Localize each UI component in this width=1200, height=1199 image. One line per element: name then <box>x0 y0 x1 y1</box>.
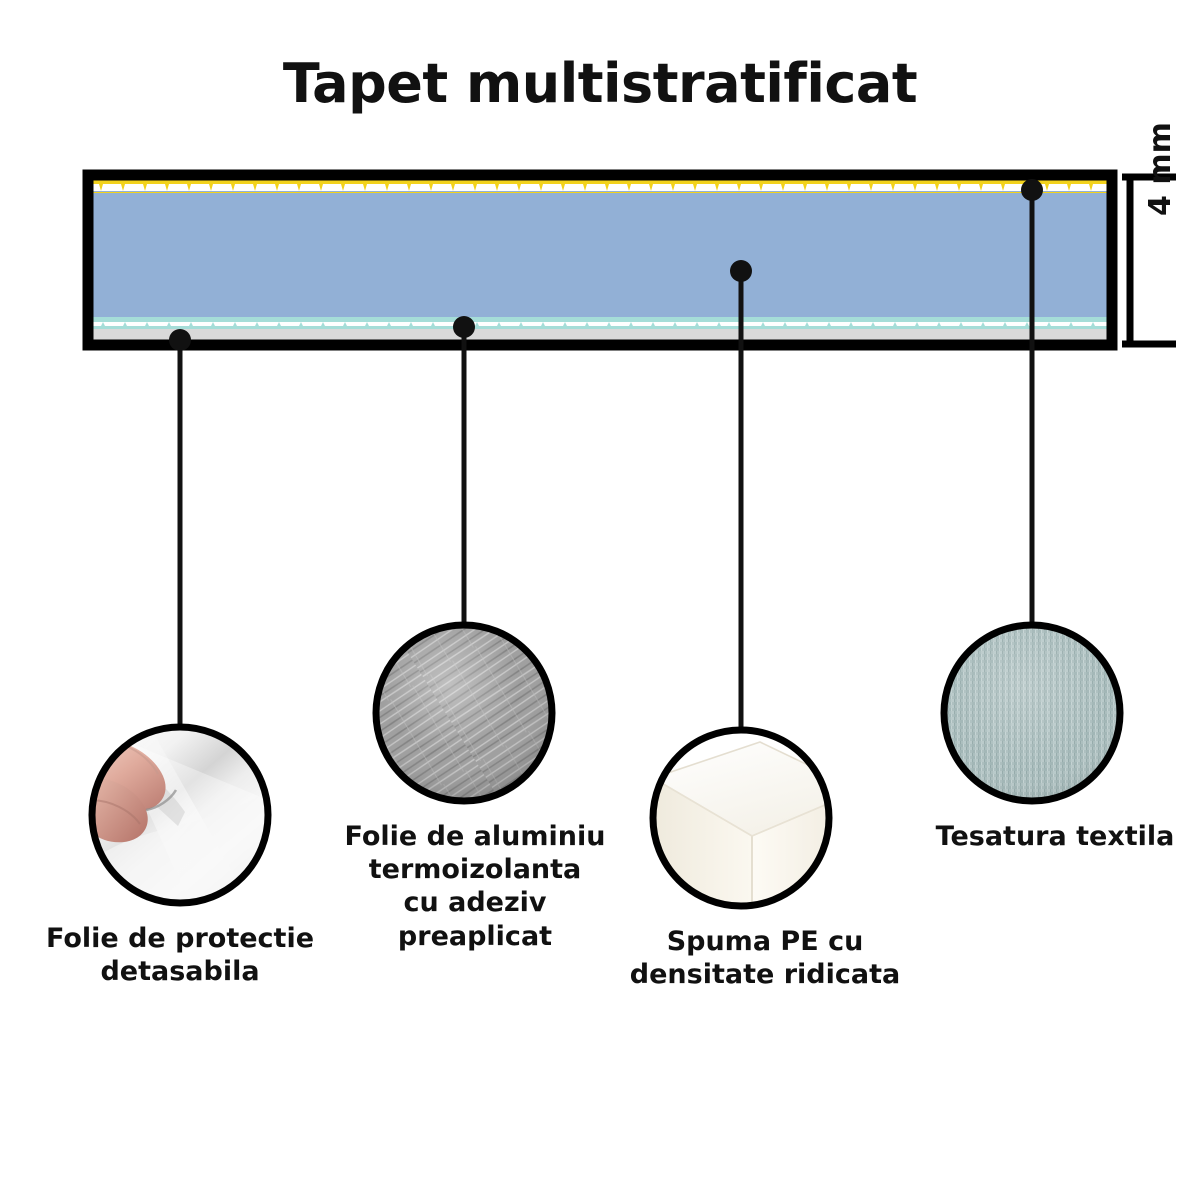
leader-anchor-dot-3 <box>1021 179 1043 201</box>
callout-circle-folie-de-aluminiu[interactable] <box>376 625 552 801</box>
layer-blue-foam <box>88 191 1112 317</box>
cross-section-diagram <box>88 175 1112 345</box>
dimension-label: 4 mm <box>1143 96 1178 216</box>
callout-circle-tesatura-textila[interactable] <box>944 625 1120 801</box>
callout-circle-folie-de-protectie-detasabila[interactable] <box>82 727 268 903</box>
callout-circle-spuma-pe[interactable] <box>653 730 860 930</box>
leader-anchor-dot-1 <box>453 316 475 338</box>
callout-label-folie-de-protectie-detasabila: Folie de protectie detasabila <box>30 922 330 988</box>
callout-label-spuma-pe: Spuma PE cu densitate ridicata <box>620 925 910 991</box>
diagram-canvas: Tapet multistratificat <box>0 0 1200 1199</box>
leader-anchor-dot-0 <box>169 329 191 351</box>
leader-anchor-dot-2 <box>730 260 752 282</box>
callout-label-folie-de-aluminiu: Folie de aluminiu termoizolanta cu adezi… <box>325 820 625 953</box>
callout-label-tesatura-textila: Tesatura textila <box>905 820 1200 853</box>
diagram-svg <box>0 0 1200 1199</box>
